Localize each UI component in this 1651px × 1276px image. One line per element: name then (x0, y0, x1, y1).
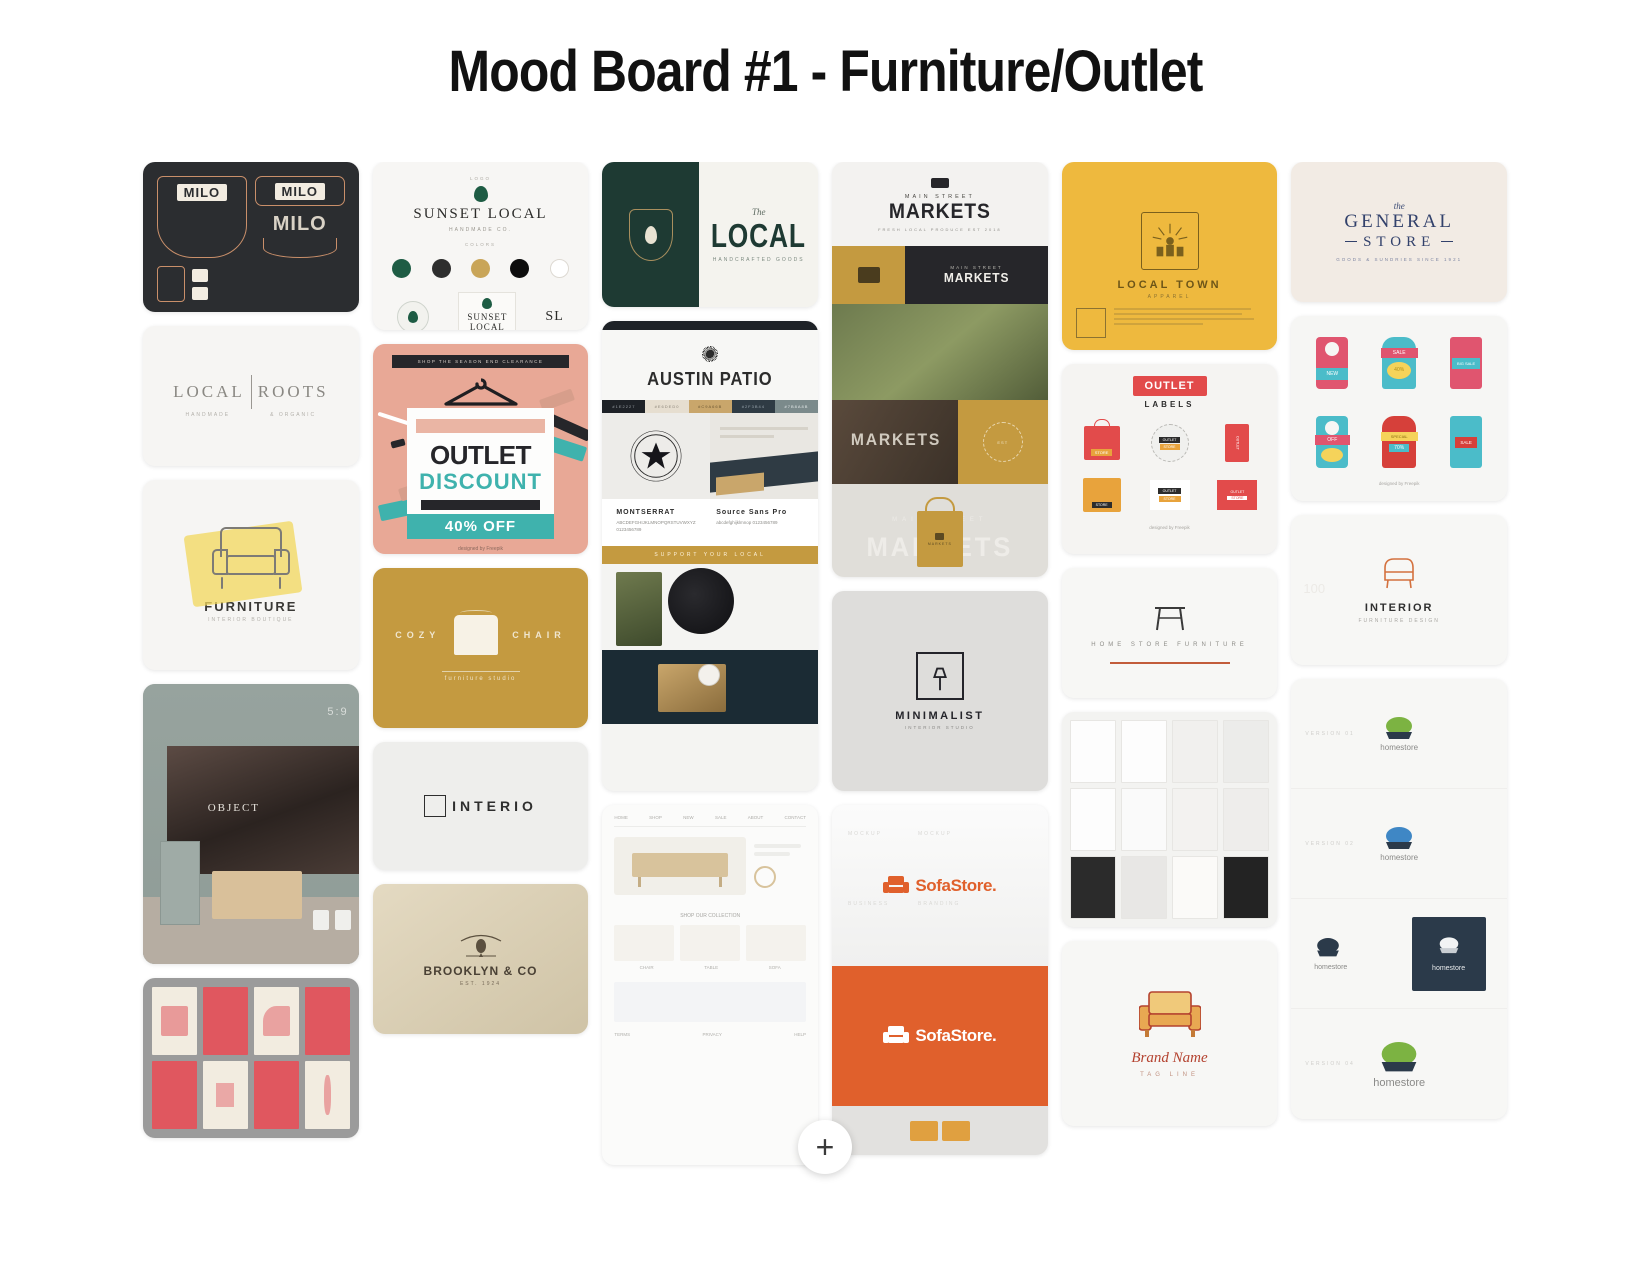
poster-tile (152, 1061, 197, 1129)
nav-item[interactable]: SHOP (649, 815, 662, 820)
home-store-label: homestore (1380, 853, 1418, 862)
column-2: LOGO SUNSET LOCAL HANDMADE CO. COLORS (373, 162, 589, 1202)
markets-title: MARKETS (841, 200, 1039, 224)
markets-sub: FRESH LOCAL PRODUCE EST 2018 (832, 227, 1048, 232)
minimalist-sub: INTERIOR STUDIO (905, 725, 975, 730)
markets-gold-panel (832, 246, 905, 304)
product-caption: CHAIR (640, 965, 654, 970)
sofa-store-tag-mockup (832, 1106, 1048, 1155)
tape-shape (390, 438, 405, 448)
square-frame-icon (424, 795, 446, 817)
local-roots-left: LOCAL (173, 382, 245, 402)
markets-dark-panel: MAIN STREET MARKETS (905, 246, 1047, 304)
outlet-labels-subtitle: LABELS (1072, 400, 1268, 409)
star-badge-icon (627, 427, 685, 485)
outlet-credit: designed by Freepik (373, 546, 589, 552)
house-plant-icon (1436, 936, 1462, 961)
frame-item (1070, 720, 1116, 783)
sale-tag-item: SPECIAL 70% (1370, 407, 1428, 477)
outlet-subtitle: DISCOUNT (407, 469, 554, 495)
webshop-footer: TERMS PRIVACY HELP (614, 982, 806, 1037)
collage-seal-icon (698, 664, 720, 686)
column-4: MAIN STREET MARKETS FRESH LOCAL PRODUCE … (832, 162, 1048, 1202)
sale-tag-item: OFF (1303, 407, 1361, 477)
font-primary-spec: ABCDEFGHIJKLMNOPQRSTUVWXYZ 0123456789 (616, 520, 704, 534)
outlet-badge-grid: STORE OUTLET STORE OUTLET (1072, 421, 1268, 517)
hanger-icon (438, 378, 524, 408)
mood-board-canvas[interactable]: MILO MILO MILO (125, 162, 1525, 1202)
sofa-icon (883, 1026, 909, 1046)
general-store-line2: STORE (1363, 234, 1435, 251)
sofa-store-light-mockup: MOCKUP MOCKUP BUSINESS BRANDING (832, 805, 1048, 966)
placeholder-text (1114, 308, 1264, 328)
badge-item: OUTLET STORE (1207, 473, 1267, 517)
minimalist-title: MINIMALIST (895, 710, 984, 722)
pin-frame-posters[interactable] (1062, 712, 1278, 927)
swatch-white (550, 259, 569, 278)
poster-tile (152, 987, 197, 1055)
column-5: LOCAL TOWN APPAREL OUTLET LABELS (1062, 162, 1278, 1202)
cozy-sub: furniture studio (445, 676, 517, 682)
swatch: #1E2227 (602, 400, 645, 413)
divider (1441, 241, 1453, 242)
pin-sale-tags[interactable]: NEW SALE 40% BIG SALE (1291, 316, 1507, 501)
divider (442, 671, 520, 672)
local-town-sub: APPAREL (1148, 294, 1192, 300)
pin-sunset-local[interactable]: LOGO SUNSET LOCAL HANDMADE CO. COLORS (373, 162, 589, 330)
outlet-banner: 40% OFF (407, 514, 554, 539)
frame-item (1070, 856, 1116, 919)
badge-item: OUTLET STORE (1140, 473, 1200, 517)
markets-dark-title: MARKETS (944, 270, 1010, 285)
sale-tag-item: SALE 40% (1370, 328, 1428, 398)
pin-outlet-labels[interactable]: OUTLET LABELS STORE OUTLET (1062, 364, 1278, 554)
interior-ghost-number: 100 (1303, 581, 1325, 596)
outlet-topbar: SHOP THE SEASON END CLEARANCE (392, 355, 569, 368)
milo-shield-icon: MILO (157, 176, 247, 258)
hang-tag-icon (910, 1121, 938, 1141)
divider (1345, 241, 1357, 242)
a-frame-sign-icon (160, 841, 200, 925)
footer-link[interactable]: PRIVACY (702, 1032, 721, 1037)
pin-home-store-furniture[interactable]: HOME STORE FURNITURE (1062, 568, 1278, 698)
potted-plant-icon (313, 910, 329, 930)
badge-item: STORE (1072, 421, 1132, 465)
sale-tag-item: BIG SALE (1437, 328, 1495, 398)
the-local-mark-panel (602, 162, 699, 307)
swatch-green (392, 259, 411, 278)
home-store-label-inverse: homestore (1432, 965, 1465, 972)
product-card[interactable] (680, 925, 740, 961)
add-pin-button[interactable]: + (798, 1120, 852, 1174)
milo-square-icon (192, 287, 208, 300)
hang-tag-icon (942, 1121, 970, 1141)
outlet-strip (416, 419, 545, 433)
home-store-dark-panel: homestore (1412, 917, 1486, 991)
sunset-color-swatches (392, 259, 568, 278)
local-town-footer (1076, 308, 1264, 338)
furniture-sub: INTERIOR BOUTIQUE (208, 617, 293, 623)
home-store-variant-row: VERSION 02 homestore (1291, 789, 1507, 899)
column-6: the GENERAL STORE GOODS & SUNDRIES SINCE… (1291, 162, 1507, 1202)
footer-link[interactable]: TERMS (614, 1032, 630, 1037)
nav-item[interactable]: NEW (683, 815, 694, 820)
home-store-variant-row: VERSION 01 homestore (1291, 679, 1507, 789)
frame-item (1223, 788, 1269, 851)
basket-icon (931, 178, 949, 188)
frame-item (1223, 720, 1269, 783)
interior-title: INTERIOR (1365, 602, 1434, 614)
cozy-word-left: COZY (395, 630, 440, 640)
sunset-tagline: HANDMADE CO. (383, 227, 579, 233)
basket-icon (858, 267, 880, 283)
product-card[interactable] (614, 925, 674, 961)
board-scroll-area[interactable]: MILO MILO MILO (125, 162, 1525, 1202)
swatch-black (510, 259, 529, 278)
font-primary-name: MONTSERRAT (616, 509, 704, 516)
sunset-monogram: SL (545, 309, 563, 325)
armchair-icon (212, 527, 290, 589)
outlet-title: OUTLET (407, 440, 554, 471)
font-secondary-name: Source Sans Pro (716, 509, 804, 516)
sale-tag-item: NEW (1303, 328, 1361, 398)
collage-photo (668, 568, 734, 634)
pin-interior-logo[interactable]: 100 INTERIOR FURNITURE DESIGN (1291, 515, 1507, 665)
divider (251, 375, 252, 409)
swatch-charcoal (432, 259, 451, 278)
milo-badge-word: MILO (177, 184, 228, 201)
frame-item (1172, 720, 1218, 783)
armchair-outline-icon (1379, 556, 1419, 590)
pin-furniture-logo[interactable]: FURNITURE INTERIOR BOUTIQUE (143, 480, 359, 670)
webshop-section-caption: SHOP OUR COLLECTION (614, 913, 806, 919)
sunburst-frame-icon (1141, 212, 1199, 270)
interio-title: INTERIO (452, 798, 537, 814)
nav-item[interactable]: CONTACT (785, 815, 806, 820)
badge-item: STORE (1072, 473, 1132, 517)
pin-brand-name-armchair[interactable]: Brand Name TAG LINE (1062, 941, 1278, 1126)
sale-tag-grid: NEW SALE 40% BIG SALE (1303, 328, 1495, 477)
pin-austin-patio[interactable]: AUSTIN PATIO #1E2227 #E6DED0 #C9A66B #2F… (602, 321, 818, 791)
circle-seal-icon: EST (983, 422, 1023, 462)
white-chair-icon (454, 615, 498, 655)
swatch-gold (471, 259, 490, 278)
pin-the-local[interactable]: The LOCAL HANDCRAFTED GOODS (602, 162, 818, 307)
product-caption: TABLE (704, 965, 718, 970)
house-plant-icon (1381, 715, 1417, 743)
variant-label: VERSION 04 (1305, 1061, 1354, 1067)
pin-sofa-store[interactable]: MOCKUP MOCKUP BUSINESS BRANDING (832, 805, 1048, 1155)
sunset-label-colors: COLORS (383, 242, 579, 247)
home-store-label: homestore (1380, 743, 1418, 752)
webshop-product-grid[interactable] (614, 925, 806, 961)
divider (1110, 662, 1230, 664)
poster-tile (203, 987, 248, 1055)
home-store-label: homestore (1314, 964, 1347, 971)
interior-sub: FURNITURE DESIGN (1358, 618, 1439, 624)
badge-item: OUTLET (1207, 421, 1267, 465)
frame-grid (1070, 720, 1270, 919)
pin-local-roots[interactable]: LOCAL ROOTS HANDMADE & ORGANIC (143, 326, 359, 466)
swatch: #7B8A8B (775, 400, 818, 413)
pin-brooklyn-co[interactable]: BROOKLYN & CO EST. 1924 (373, 884, 589, 1034)
milo-card-icon (157, 266, 185, 302)
general-store-line1: GENERAL (1344, 211, 1454, 233)
product-card[interactable] (746, 925, 806, 961)
sofa-store-title: SofaStore. (915, 876, 996, 896)
variant-label: VERSION 02 (1305, 841, 1354, 847)
milo-pill-word: MILO (275, 183, 326, 200)
swatch: #C9A66B (689, 400, 732, 413)
frame-item (1121, 720, 1167, 783)
column-3: The LOCAL HANDCRAFTED GOODS AUSTIN PATIO… (602, 162, 818, 1202)
milo-square-icon (192, 269, 208, 282)
austin-typography: MONTSERRAT ABCDEFGHIJKLMNOPQRSTUVWXYZ 01… (602, 499, 818, 546)
pin-home-store-logos[interactable]: VERSION 01 homestore VER (1291, 679, 1507, 1119)
pin-general-store[interactable]: the GENERAL STORE GOODS & SUNDRIES SINCE… (1291, 162, 1507, 302)
frame-item (1172, 788, 1218, 851)
collage-photo (616, 572, 662, 646)
cozy-word-right: CHAIR (512, 630, 566, 640)
brooklyn-title: BROOKLYN & CO (424, 964, 538, 978)
footer-link[interactable]: HELP (794, 1032, 806, 1037)
home-store-label: homestore (1373, 1077, 1425, 1089)
house-plant-icon (1313, 936, 1349, 964)
pin-main-street-markets[interactable]: MAIN STREET MARKETS FRESH LOCAL PRODUCE … (832, 162, 1048, 577)
pin-local-town[interactable]: LOCAL TOWN APPAREL (1062, 162, 1278, 350)
outlet-labels-credit: designed by Freepik (1072, 525, 1268, 530)
poster-tile (254, 1061, 299, 1129)
austin-topbar (602, 321, 818, 330)
pin-outlet-discount[interactable]: SHOP THE SEASON END CLEARANCE OUTLET DIS… (373, 344, 589, 554)
outlet-divider (421, 500, 540, 510)
the-local-wordmark-panel: The LOCAL HANDCRAFTED GOODS (699, 162, 818, 307)
house-plant-icon (1381, 825, 1417, 853)
sofa-icon (883, 876, 909, 896)
austin-photo-panel (710, 413, 818, 499)
austin-swatches: #1E2227 #E6DED0 #C9A66B #2F3B44 #7B8A8B (602, 400, 818, 413)
product-details (754, 844, 806, 888)
frame-item (1121, 788, 1167, 851)
outlet-sign-card: OUTLET DISCOUNT 40% OFF (407, 408, 554, 538)
page-title: Mood Board #1 - Furniture/Outlet (116, 0, 1536, 105)
storefront-time-overlay: 5:9 (327, 706, 348, 718)
outlet-labels-tag: OUTLET (1133, 376, 1207, 396)
poster-tile (254, 987, 299, 1055)
nav-item[interactable]: ABOUT (748, 815, 764, 820)
font-secondary-spec: abcdefghijklmnop 0123456789 (716, 520, 804, 527)
milo-pill-icon: MILO (255, 176, 345, 206)
armchair-icon (1139, 990, 1201, 1038)
pin-interio-logo[interactable]: INTERIO (373, 742, 589, 870)
sofa-store-dark-mockup: SofaStore. (832, 966, 1048, 1106)
sunset-stacked-mark: SUNSET LOCAL EST (458, 292, 516, 330)
markets-seal-panel: EST (958, 400, 1048, 484)
austin-collage (602, 564, 818, 724)
milo-arc-icon (263, 238, 337, 258)
general-store-the: the (1394, 201, 1405, 211)
sofa-store-title-inverse: SofaStore. (915, 1026, 996, 1046)
poster-tile (305, 1061, 350, 1129)
pin-columns: MILO MILO MILO (125, 162, 1525, 1202)
brand-name-title: Brand Name (1131, 1050, 1207, 1067)
markets-interior-photo: MARKETS (832, 400, 958, 484)
tote-bag-icon: MARKETS (917, 511, 963, 567)
sale-tag-item: SALE (1437, 407, 1495, 477)
sale-tags-credit: designed by Freepik (1303, 481, 1495, 486)
frame-item (1223, 856, 1269, 919)
local-roots-right: ROOTS (258, 382, 329, 402)
milo-outline-logotype: MILO (255, 213, 345, 236)
poster-tile (203, 1061, 248, 1129)
pin-poster-grid[interactable] (143, 978, 359, 1138)
frame-item (1070, 788, 1116, 851)
the-local-the: The (752, 207, 766, 217)
markets-produce-photo (832, 304, 1048, 400)
pin-object-storefront[interactable]: OBJECT 5:9 (143, 684, 359, 964)
bird-emblem-icon (458, 932, 504, 958)
sunset-title: SUNSET LOCAL (383, 206, 579, 223)
austin-badge-panel (602, 413, 710, 499)
pin-milo-branding[interactable]: MILO MILO MILO (143, 162, 359, 312)
local-town-title: LOCAL TOWN (1117, 279, 1221, 291)
webshop-nav[interactable]: HOME SHOP NEW SALE ABOUT CONTACT (614, 815, 806, 827)
pin-minimalist[interactable]: MINIMALIST INTERIOR STUDIO (832, 591, 1048, 791)
home-store-variant-row: homestore homestore (1291, 899, 1507, 1009)
wooden-desk-icon (212, 871, 302, 919)
leaf-shield-icon (629, 209, 673, 261)
home-store-furniture-title: HOME STORE FURNITURE (1091, 642, 1248, 648)
table-icon (1153, 602, 1187, 632)
the-local-title: LOCAL (711, 217, 806, 255)
frame-item (1172, 856, 1218, 919)
local-roots-sub-right: & ORGANIC (270, 412, 316, 418)
brand-name-tagline: TAG LINE (1140, 1072, 1199, 1078)
leaf-icon (474, 186, 488, 202)
general-store-sub: GOODS & SUNDRIES SINCE 1921 (1336, 256, 1462, 263)
brooklyn-sub: EST. 1924 (460, 981, 501, 987)
pin-furniture-webshop[interactable]: HOME SHOP NEW SALE ABOUT CONTACT (602, 805, 818, 1165)
column-1: MILO MILO MILO (143, 162, 359, 1202)
swatch: #2F3B44 (732, 400, 775, 413)
variant-label: VERSION 01 (1305, 731, 1354, 737)
austin-gold-band: SUPPORT YOUR LOCAL (602, 546, 818, 564)
markets-tote-mockup: MARKETS MAIN STREET MARKETS (832, 484, 1048, 577)
mini-mark-icon (1076, 308, 1106, 338)
sunset-label-logo: LOGO (383, 176, 579, 181)
local-roots-sub-left: HANDMADE (185, 412, 230, 418)
nav-item[interactable]: HOME (614, 815, 628, 820)
frame-item (1121, 856, 1167, 919)
house-plant-icon (1375, 1039, 1423, 1077)
nav-item[interactable]: SALE (715, 815, 727, 820)
badge-item: OUTLET STORE (1140, 421, 1200, 465)
storefront-sign-text: OBJECT (208, 802, 260, 814)
the-local-sub: HANDCRAFTED GOODS (713, 257, 805, 263)
lamp-in-frame-icon (916, 652, 964, 700)
poster-tile (305, 987, 350, 1055)
austin-title: AUSTIN PATIO (611, 369, 809, 390)
markets-photo-overlay: MARKETS (851, 430, 941, 450)
potted-plant-icon (335, 910, 351, 930)
sunset-seal-mark (397, 301, 429, 330)
swatch: #E6DED0 (645, 400, 688, 413)
product-hero-image (614, 837, 746, 895)
pin-cozy-chair[interactable]: COZY CHAIR furniture studio (373, 568, 589, 728)
home-store-variant-row: VERSION 04 homestore (1291, 1009, 1507, 1119)
sunburst-icon (702, 346, 718, 362)
product-caption: SOFA (769, 965, 781, 970)
